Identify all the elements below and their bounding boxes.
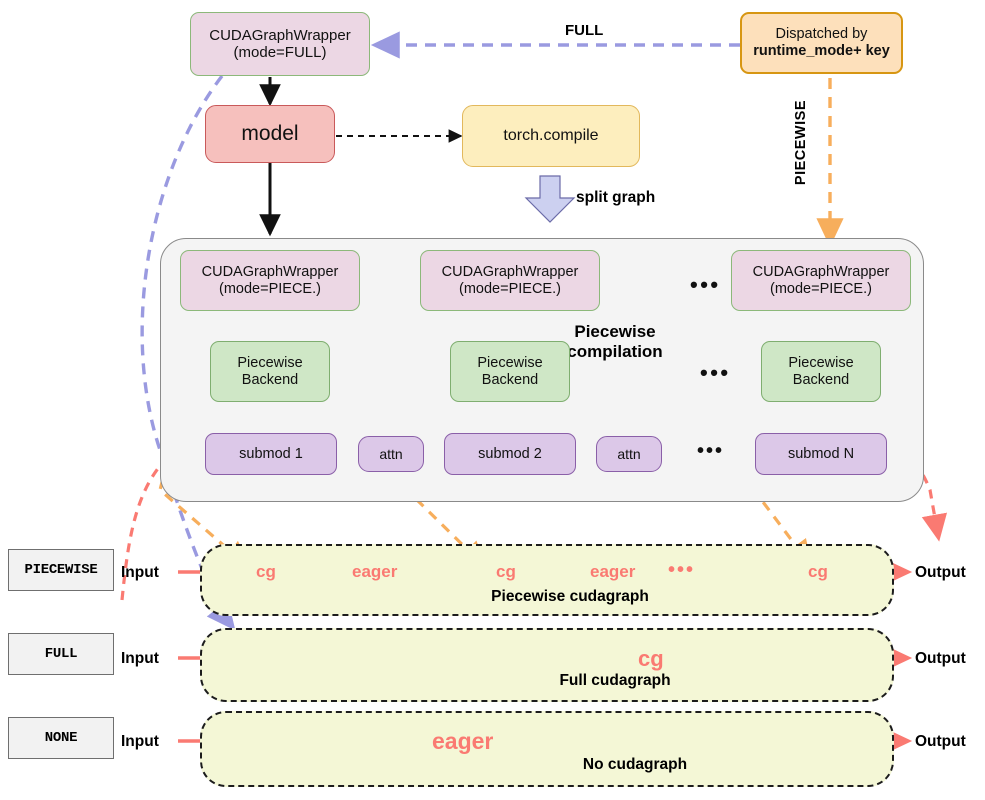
diagram-canvas: CUDAGraphWrapper (mode=FULL) FULL Dispat… xyxy=(0,0,985,800)
group-ellipsis-bottom: ••• xyxy=(697,440,724,463)
lane-none-caption: No cudagraph xyxy=(545,756,725,774)
wrapper-full-line1: CUDAGraphWrapper xyxy=(209,27,350,44)
piecewise-backend-n-line2: Backend xyxy=(793,372,849,389)
lane-piecewise-caption: Piecewise cudagraph xyxy=(455,588,685,606)
submod-2[interactable]: submod 2 xyxy=(444,433,576,475)
cudagraph-wrapper-full[interactable]: CUDAGraphWrapper (mode=FULL) xyxy=(190,12,370,76)
piecewise-backend-1-line1: Piecewise xyxy=(237,355,302,372)
piecewise-wrapper-2-line2: (mode=PIECE.) xyxy=(459,281,561,298)
attn-node-2[interactable]: attn xyxy=(596,436,662,472)
attn-node-1-label: attn xyxy=(379,446,402,462)
mode-box-full[interactable]: FULL xyxy=(8,633,114,675)
dispatch-box[interactable]: Dispatched by runtime_mode+ key xyxy=(740,12,903,74)
dispatch-line2: runtime_mode+ key xyxy=(753,43,890,60)
group-ellipsis-top: ••• xyxy=(690,272,721,298)
piecewise-backend-2[interactable]: Piecewise Backend xyxy=(450,341,570,402)
mode-box-none[interactable]: NONE xyxy=(8,717,114,759)
piecewise-backend-2-line2: Backend xyxy=(482,372,538,389)
submod-1-label: submod 1 xyxy=(239,446,303,463)
piecewise-backend-1[interactable]: Piecewise Backend xyxy=(210,341,330,402)
piecewise-backend-n-line1: Piecewise xyxy=(788,355,853,372)
submod-n[interactable]: submod N xyxy=(755,433,887,475)
lane1-step-2: cg xyxy=(496,562,516,582)
piecewise-wrapper-n-line2: (mode=PIECE.) xyxy=(770,281,872,298)
piecewise-wrapper-1-line2: (mode=PIECE.) xyxy=(219,281,321,298)
submod-1[interactable]: submod 1 xyxy=(205,433,337,475)
split-graph-label: split graph xyxy=(576,189,655,207)
lane-none-output: Output xyxy=(915,733,966,751)
lane1-step-4: ••• xyxy=(668,559,695,582)
attn-node-1[interactable]: attn xyxy=(358,436,424,472)
model-box[interactable]: model xyxy=(205,105,335,163)
piecewise-wrapper-n[interactable]: CUDAGraphWrapper (mode=PIECE.) xyxy=(731,250,911,311)
torch-compile-label: torch.compile xyxy=(503,127,598,145)
model-label: model xyxy=(241,122,298,146)
lane-full-caption: Full cudagraph xyxy=(525,672,705,690)
wrapper-full-line2: (mode=FULL) xyxy=(234,44,327,61)
lane-full-input: Input xyxy=(121,650,159,668)
piecewise-wrapper-2-line1: CUDAGraphWrapper xyxy=(442,264,579,281)
split-graph-arrow xyxy=(526,176,574,222)
torch-compile-box[interactable]: torch.compile xyxy=(462,105,640,167)
submod-2-label: submod 2 xyxy=(478,446,542,463)
edge-label-full: FULL xyxy=(565,22,603,39)
lane1-step-1: eager xyxy=(352,562,397,582)
piecewise-wrapper-2[interactable]: CUDAGraphWrapper (mode=PIECE.) xyxy=(420,250,600,311)
group-title-line1: Piecewise xyxy=(540,322,690,342)
lane1-step-3: eager xyxy=(590,562,635,582)
piecewise-wrapper-1[interactable]: CUDAGraphWrapper (mode=PIECE.) xyxy=(180,250,360,311)
piecewise-wrapper-1-line1: CUDAGraphWrapper xyxy=(202,264,339,281)
group-ellipsis-mid: ••• xyxy=(700,360,731,386)
piecewise-wrapper-n-line1: CUDAGraphWrapper xyxy=(753,264,890,281)
piecewise-backend-2-line1: Piecewise xyxy=(477,355,542,372)
dispatch-line1: Dispatched by xyxy=(776,26,868,43)
lane-piecewise-output: Output xyxy=(915,564,966,582)
mode-box-piecewise[interactable]: PIECEWISE xyxy=(8,549,114,591)
lane2-step-0: cg xyxy=(638,646,664,672)
lane-none xyxy=(200,711,894,787)
piecewise-backend-n[interactable]: Piecewise Backend xyxy=(761,341,881,402)
lane1-step-0: cg xyxy=(256,562,276,582)
lane-full xyxy=(200,628,894,702)
lane-none-input: Input xyxy=(121,733,159,751)
lane-full-output: Output xyxy=(915,650,966,668)
attn-node-2-label: attn xyxy=(617,446,640,462)
piecewise-backend-1-line2: Backend xyxy=(242,372,298,389)
submod-n-label: submod N xyxy=(788,446,854,463)
lane3-step-0: eager xyxy=(432,728,493,755)
edge-label-piecewise: PIECEWISE xyxy=(793,100,809,185)
lane1-step-5: cg xyxy=(808,562,828,582)
lane-piecewise-input: Input xyxy=(121,564,159,582)
